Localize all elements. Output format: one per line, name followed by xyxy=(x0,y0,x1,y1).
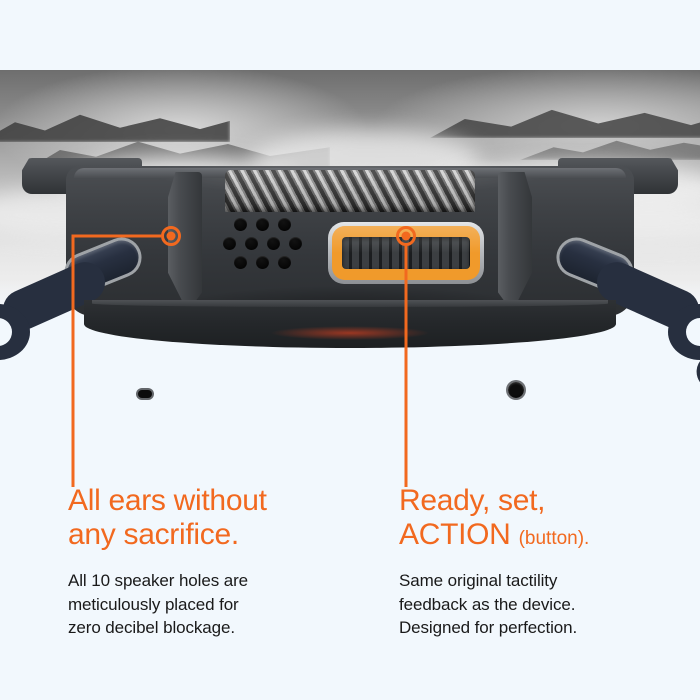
body-speaker: All 10 speaker holes are meticulously pl… xyxy=(68,569,328,639)
marketing-panel: All ears without any sacrifice. All 10 s… xyxy=(0,0,700,700)
speaker-hole xyxy=(256,218,269,231)
speaker-hole xyxy=(278,218,291,231)
speaker-hole xyxy=(223,237,236,250)
case-underside xyxy=(84,300,616,348)
carbon-fiber-panel xyxy=(225,170,475,212)
speaker-hole xyxy=(289,237,302,250)
callout-text-action-button: Ready, set, ACTION (button). Same origin… xyxy=(399,484,649,640)
speaker-hole xyxy=(278,256,291,269)
body-action-button: Same original tactility feedback as the … xyxy=(399,569,649,639)
callout-text-speaker: All ears without any sacrifice. All 10 s… xyxy=(68,484,328,640)
speaker-hole xyxy=(245,237,258,250)
speaker-hole xyxy=(267,237,280,250)
callout-marker-action-button[interactable] xyxy=(396,226,416,246)
speaker-hole xyxy=(234,256,247,269)
mic-slot xyxy=(138,390,152,398)
case-underside-seam xyxy=(92,300,608,307)
speaker-hole xyxy=(234,218,247,231)
headline-action-button: Ready, set, ACTION (button). xyxy=(399,484,649,551)
speaker-hole xyxy=(256,256,269,269)
speaker-hole-grid xyxy=(218,218,304,270)
ridge-shape xyxy=(0,108,230,142)
headline-action-suffix: (button). xyxy=(519,528,590,549)
headline-speaker: All ears without any sacrifice. xyxy=(68,484,328,551)
screw-port xyxy=(508,382,524,398)
callout-marker-speaker[interactable] xyxy=(161,226,181,246)
ridge-shape xyxy=(430,100,700,138)
